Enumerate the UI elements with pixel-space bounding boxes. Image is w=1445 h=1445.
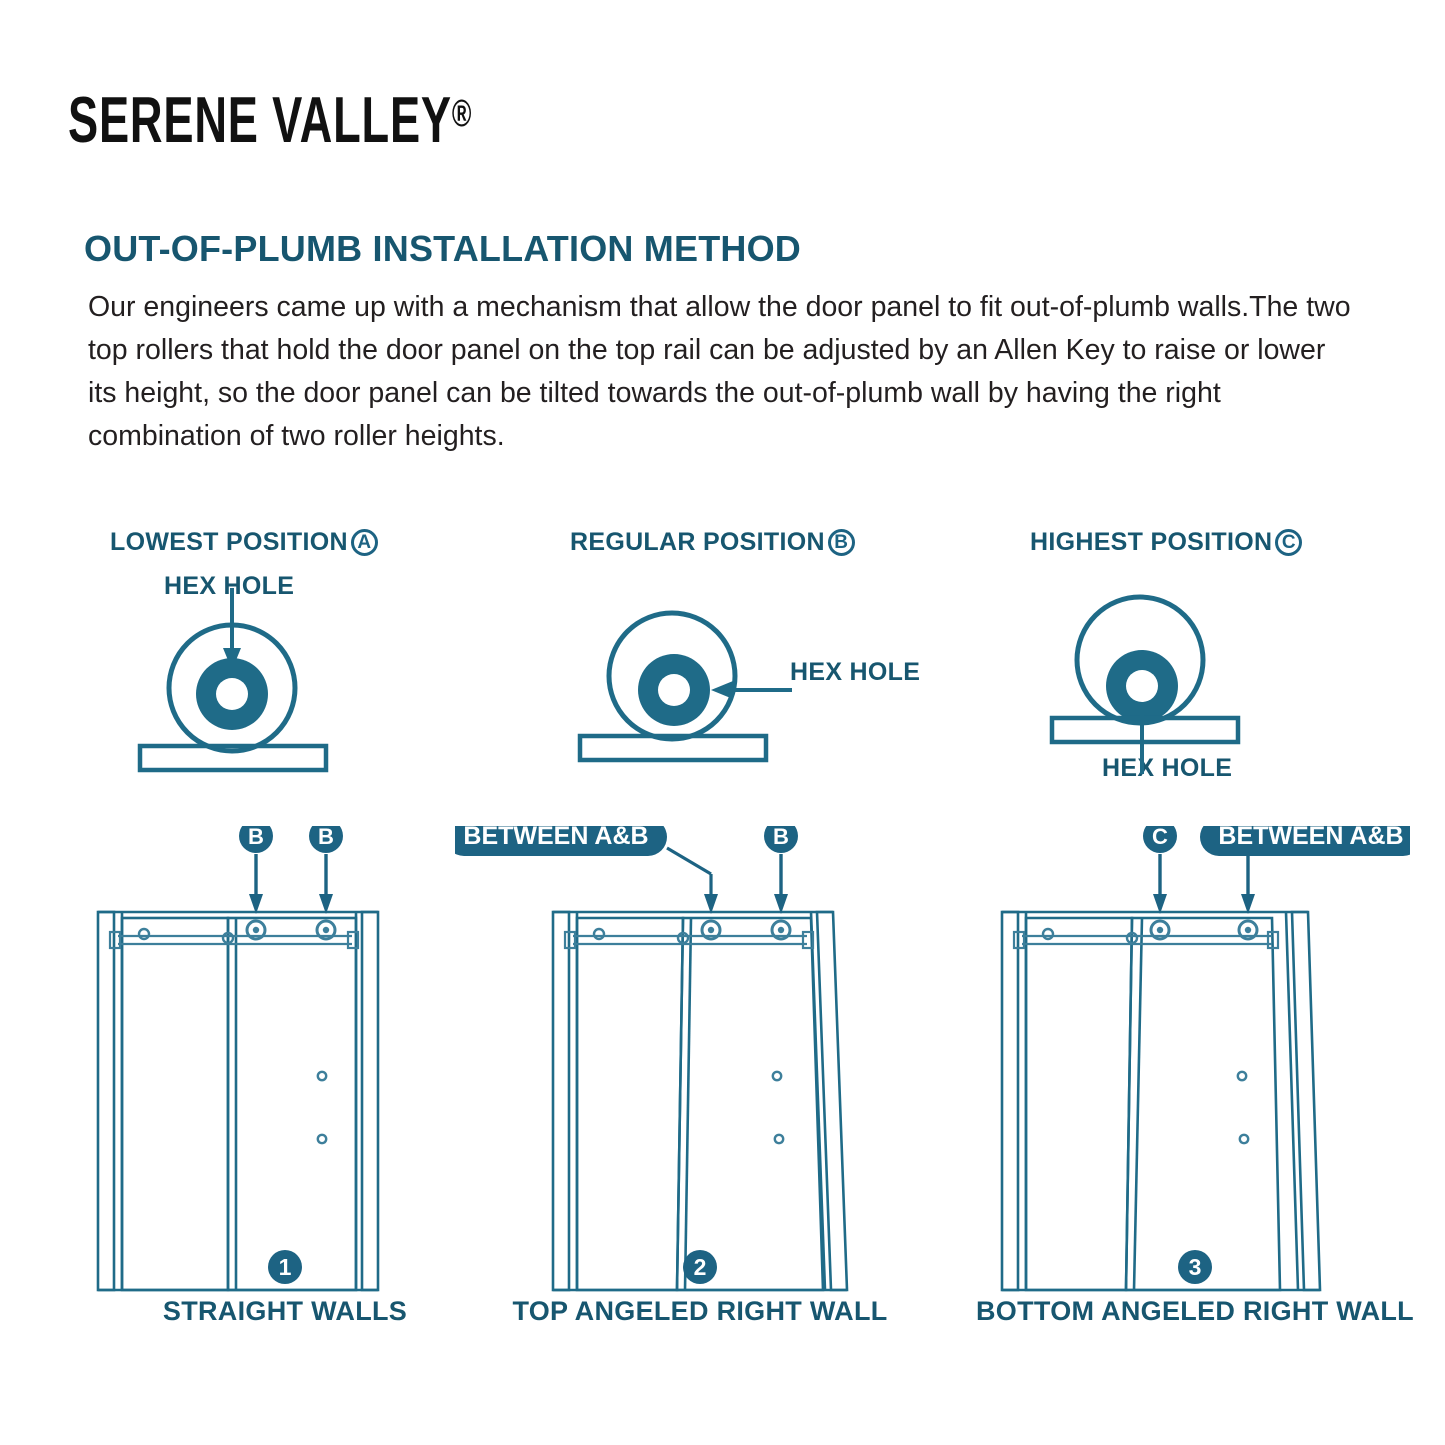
leader-arrowhead-b — [711, 681, 733, 699]
roller-position-c: HIGHEST POSITION C HEX HOLE — [1010, 528, 1445, 798]
roller-position-b: REGULAR POSITION B HEX HOLE — [552, 528, 992, 798]
marker-badge-3a-label: C — [1152, 826, 1168, 849]
door-drawing-3: C BETWEEN A&B — [960, 826, 1410, 1326]
fixed-panel-2 — [577, 918, 683, 1290]
roller-position-a-label: LOWEST POSITION — [110, 528, 348, 557]
right-wall-jamb-1 — [362, 912, 378, 1290]
door-number-badge-1: 1 — [268, 1250, 302, 1284]
page-title: OUT-OF-PLUMB INSTALLATION METHOD — [84, 228, 801, 270]
fixed-panel-1 — [122, 918, 228, 1290]
door-edge-line-3 — [1134, 918, 1142, 1290]
roller-diagram-c — [1010, 578, 1445, 808]
handle-holes-2 — [773, 1072, 783, 1143]
door-drawing-2: BETWEEN A&B B — [455, 826, 905, 1326]
sliding-door-panel-2 — [677, 918, 823, 1290]
door-caption-1: STRAIGHT WALLS — [60, 1296, 510, 1327]
door-diagram-3: C BETWEEN A&B 3 BOTTOM ANGELED RIGHT WAL… — [960, 826, 1410, 1426]
left-wall-jamb-2 — [553, 912, 569, 1290]
roller-position-a-title: LOWEST POSITION A — [92, 528, 532, 557]
door-number-badge-3: 3 — [1178, 1250, 1212, 1284]
roller-position-b-title: REGULAR POSITION B — [552, 528, 992, 557]
door-caption-3: BOTTOM ANGELED RIGHT WALL — [970, 1296, 1420, 1327]
roller-position-b-label: REGULAR POSITION — [570, 528, 825, 557]
marker-badge-2a-label: BETWEEN A&B — [463, 826, 648, 850]
brand-logo: SERENE VALLEY® — [68, 88, 488, 160]
door-number-badge-2: 2 — [683, 1250, 717, 1284]
marker-badge-3a: C — [1143, 826, 1177, 853]
door-diagram-1: B B 1 STRAIGHT WALLS — [60, 826, 510, 1426]
position-badge-a: A — [351, 529, 378, 556]
hex-hole-inner-a — [216, 678, 248, 710]
marker-badge-3b: BETWEEN A&B — [1200, 826, 1410, 856]
roller-position-c-title: HIGHEST POSITION C — [1010, 528, 1445, 557]
top-rail-hardware-2 — [565, 932, 813, 948]
hex-hole-inner-c — [1126, 670, 1158, 702]
roller-position-c-label: HIGHEST POSITION — [1030, 528, 1272, 557]
top-rail-hardware-1 — [110, 932, 358, 948]
marker-badge-3b-label: BETWEEN A&B — [1218, 826, 1403, 850]
marker-badge-2b: B — [764, 826, 798, 853]
marker-badge-1b: B — [309, 826, 343, 853]
marker-leaders-3 — [1153, 854, 1255, 914]
intro-paragraph: Our engineers came up with a mechanism t… — [88, 286, 1358, 458]
brand-name: SERENE VALLEY — [68, 84, 452, 157]
sliding-door-panel-1 — [228, 918, 356, 1290]
position-badge-c: C — [1275, 529, 1302, 556]
door-diagram-2: BETWEEN A&B B 2 TOP ANGELED RIGHT WALL — [455, 826, 905, 1426]
handle-holes-1 — [318, 1072, 326, 1143]
roller-diagram-a — [92, 578, 532, 808]
marker-badge-1a: B — [239, 826, 273, 853]
marker-leaders-2 — [667, 848, 788, 914]
roller-hardware-3 — [1043, 921, 1257, 943]
brand-logo-text: SERENE VALLEY® — [68, 88, 396, 153]
marker-badge-2a: BETWEEN A&B — [455, 826, 667, 856]
door-caption-2: TOP ANGELED RIGHT WALL — [475, 1296, 925, 1327]
marker-badge-1b-label: B — [318, 826, 334, 849]
marker-badge-1a-label: B — [248, 826, 264, 849]
registered-mark-icon: ® — [452, 92, 472, 135]
handle-holes-3 — [1238, 1072, 1248, 1143]
roller-position-a: LOWEST POSITION A HEX HOLE — [92, 528, 532, 798]
hex-hole-inner-b — [658, 674, 690, 706]
sliding-door-panel-3 — [1126, 918, 1280, 1290]
marker-leaders-1 — [249, 854, 333, 914]
left-wall-jamb-3 — [1002, 912, 1018, 1290]
position-badge-b: B — [828, 529, 855, 556]
right-jamb-inner-line-3 — [1286, 912, 1298, 1290]
left-wall-jamb-1 — [98, 912, 114, 1290]
roller-diagram-b — [552, 578, 992, 808]
fixed-panel-3 — [1026, 918, 1132, 1290]
marker-badge-2b-label: B — [773, 826, 789, 849]
door-edge-line-2 — [685, 918, 691, 1290]
